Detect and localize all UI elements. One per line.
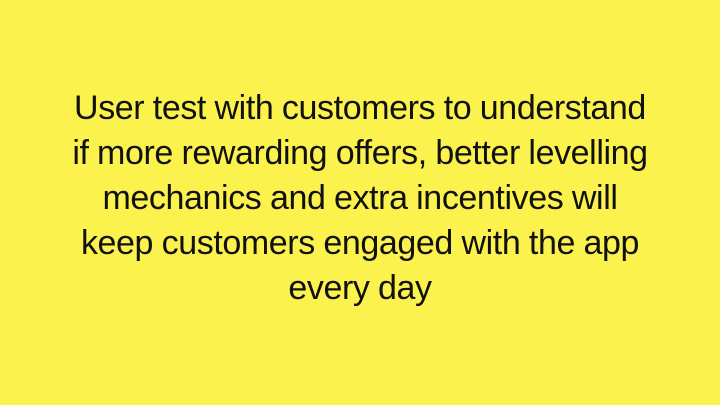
headline-line: mechanics and extra incentives will: [14, 176, 706, 221]
slide-canvas: User test with customers to understand i…: [0, 0, 720, 405]
headline-text-block: User test with customers to understand i…: [0, 86, 720, 311]
headline-line: User test with customers to understand: [14, 86, 706, 131]
headline-line: keep customers engaged with the app: [14, 221, 706, 266]
headline-line: if more rewarding offers, better levelli…: [14, 131, 706, 176]
headline-line: every day: [14, 266, 706, 311]
